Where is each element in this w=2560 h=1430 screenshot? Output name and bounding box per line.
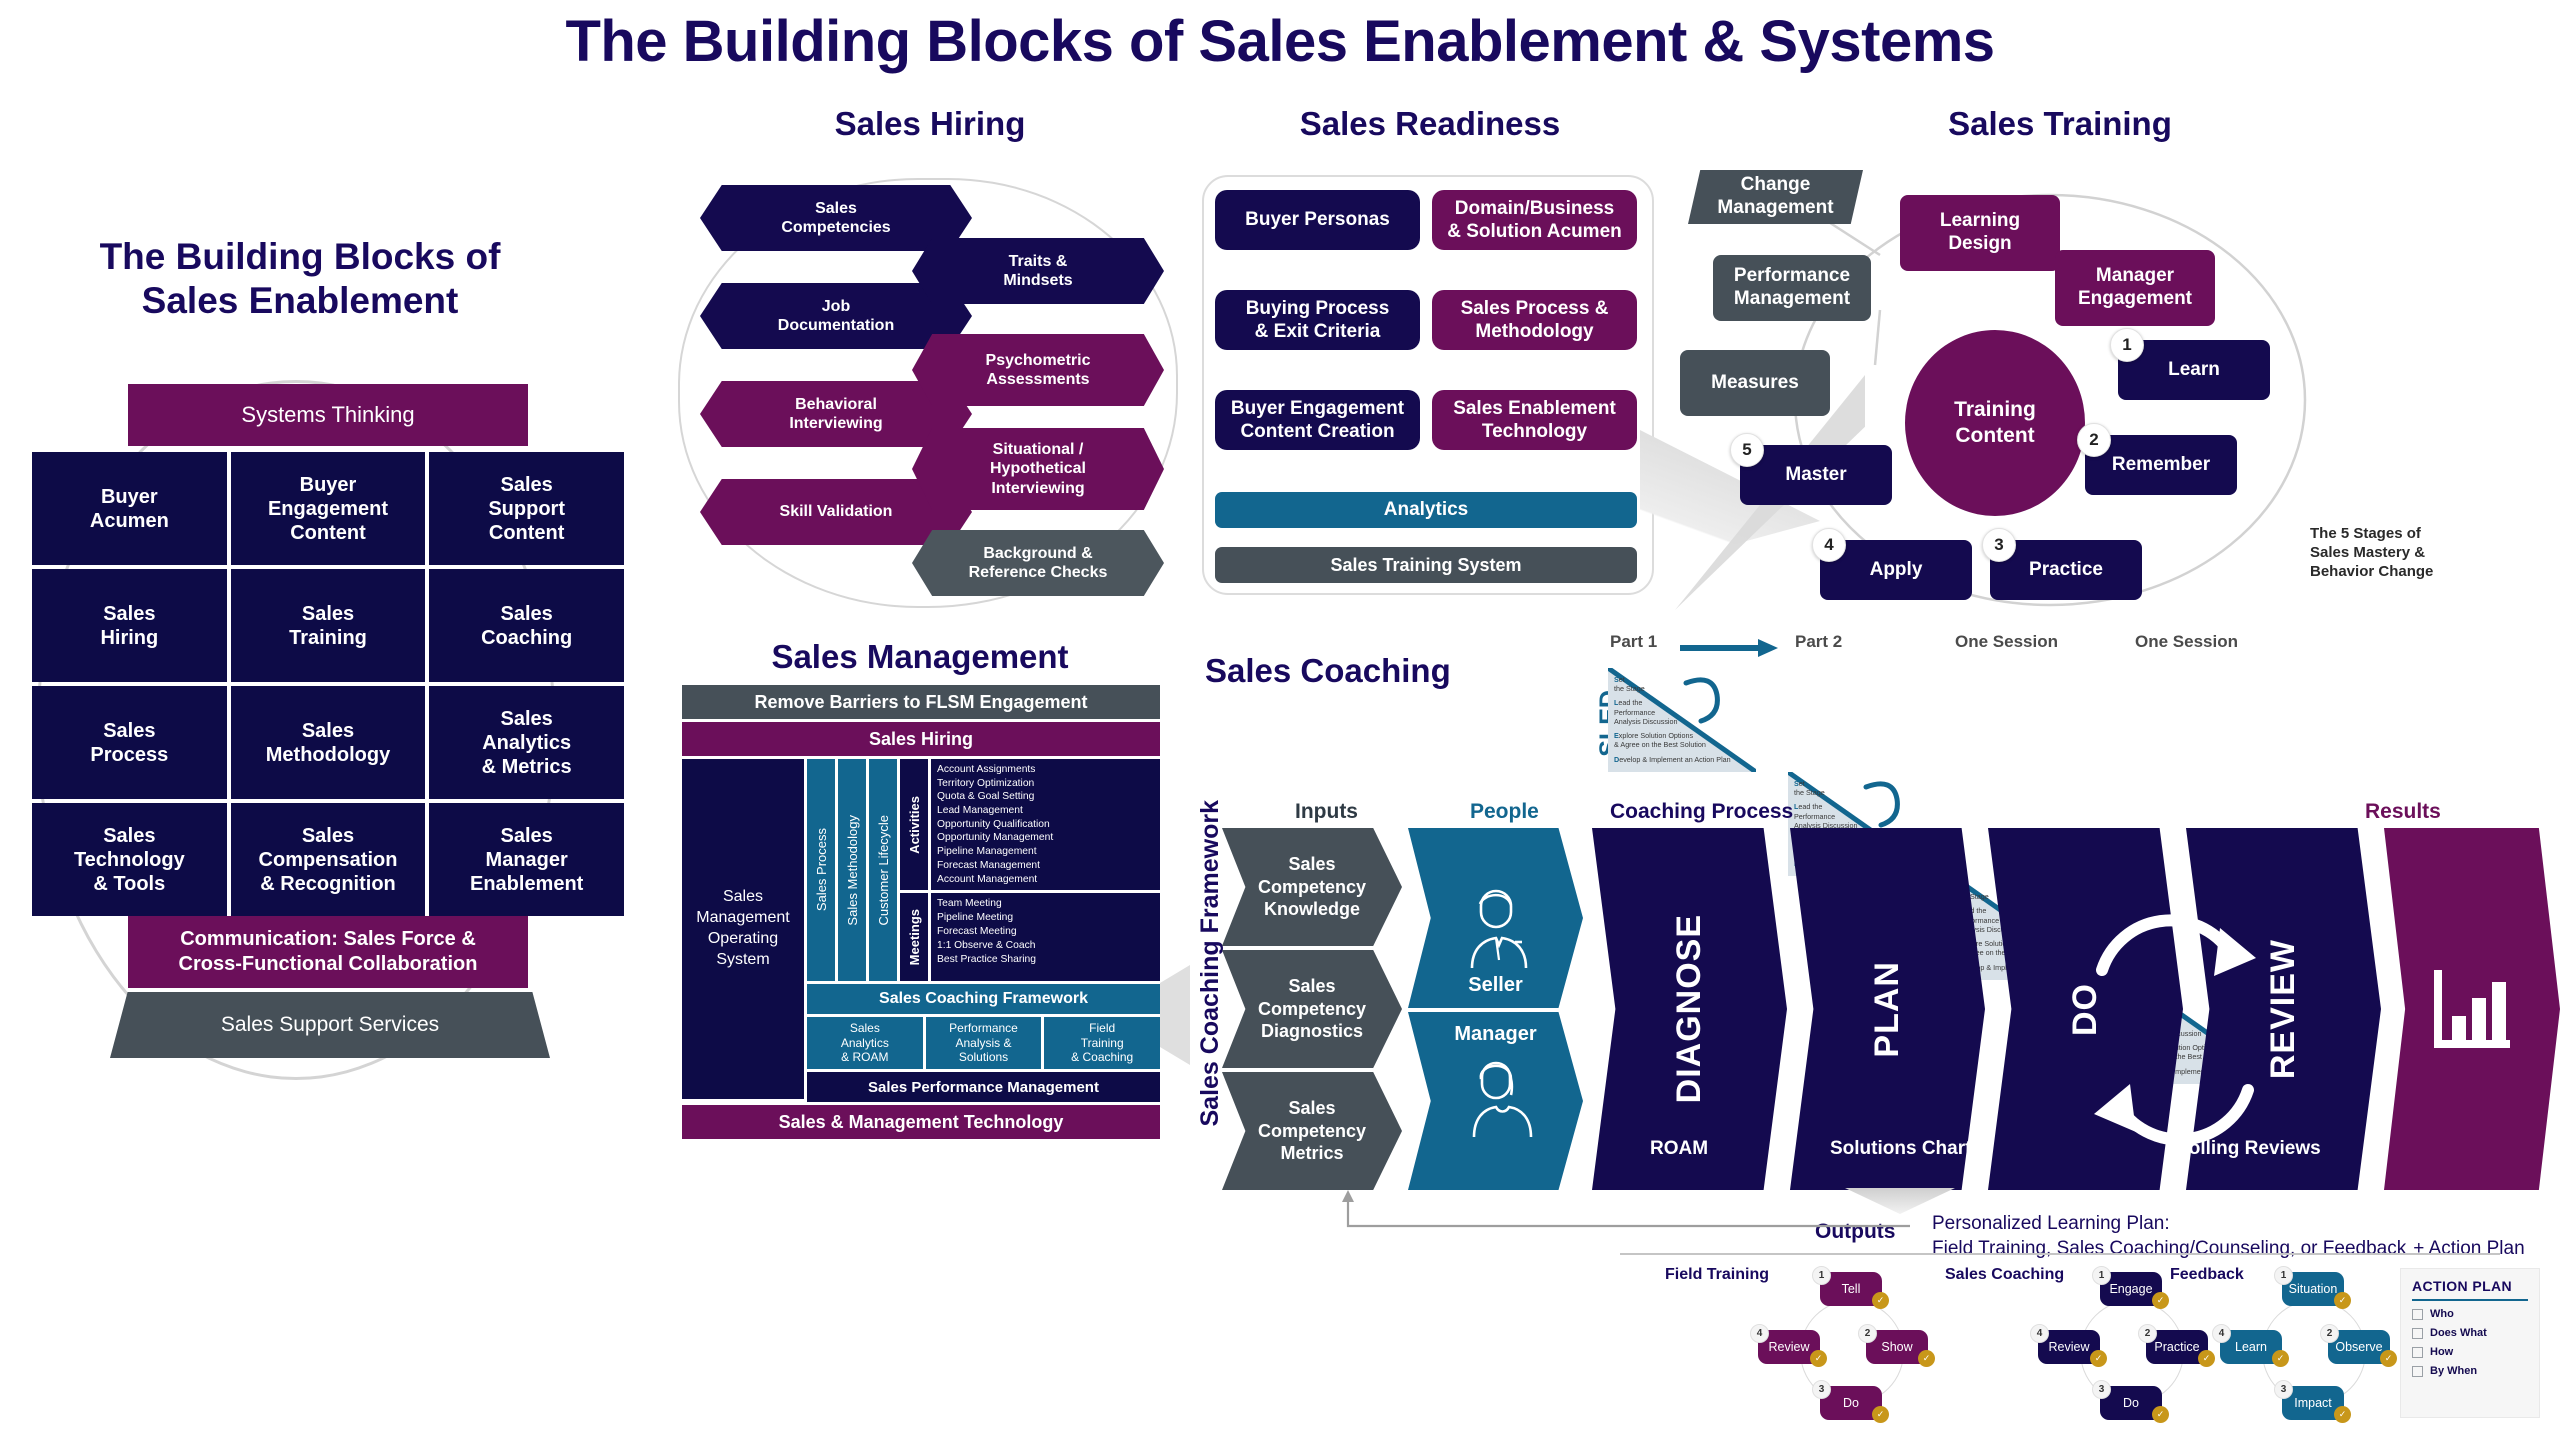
sled-line2: the Stage: [1794, 788, 1825, 797]
cycle-title-field-training: Field Training: [1665, 1266, 1769, 1284]
building-blocks-grid: BuyerAcumen BuyerEngagementContent Sales…: [32, 452, 624, 916]
sm-activity-item: Quota & Goal Setting: [937, 790, 1154, 804]
sled-rest: xplore Solution Options: [1619, 731, 1693, 740]
cycle-step-number: 3: [1812, 1380, 1831, 1399]
training-stage-number: 4: [1812, 528, 1846, 562]
cycle-title-sales-coaching: Sales Coaching: [1945, 1266, 2064, 1284]
building-block-cell[interactable]: SalesProcess: [32, 686, 227, 799]
building-block-cell[interactable]: SalesCoaching: [429, 569, 624, 682]
cycle-step-number: 2: [1858, 1324, 1877, 1343]
cycle-step-check-icon: ✓: [2380, 1350, 2397, 1367]
readiness-card-buying-process[interactable]: Buying Process& Exit Criteria: [1215, 290, 1420, 350]
building-block-cell[interactable]: SalesTechnology& Tools: [32, 803, 227, 916]
coaching-person-label: Seller: [1468, 973, 1522, 998]
coaching-col-process: Coaching Process: [1610, 800, 1793, 824]
hiring-hex-background-checks[interactable]: Background &Reference Checks: [912, 530, 1164, 596]
coaching-col-inputs: Inputs: [1295, 800, 1358, 824]
sm-technology-bar: Sales & Management Technology: [682, 1105, 1160, 1139]
cycle-step-number: 1: [2274, 1266, 2293, 1285]
sm-meeting-item: Forecast Meeting: [937, 925, 1154, 939]
sm-meetings-label: Meetings: [907, 909, 922, 965]
sm-subbox-analytics-roam[interactable]: SalesAnalytics& ROAM: [807, 1017, 923, 1069]
building-block-cell[interactable]: SalesTraining: [231, 569, 426, 682]
cycle-step-check-icon: ✓: [1872, 1406, 1889, 1423]
coaching-person-label: Manager: [1454, 1022, 1536, 1047]
sm-col-label: Customer Lifecycle: [876, 815, 891, 926]
seller-avatar-icon: [1459, 882, 1533, 968]
coaching-results-chevron[interactable]: [2384, 828, 2560, 1190]
cycle-step-number: 1: [1812, 1266, 1831, 1285]
sm-performance-management-bar: Sales Performance Management: [807, 1072, 1160, 1102]
action-plan-label: How: [2430, 1346, 2453, 1358]
cycle-step-check-icon: ✓: [2272, 1350, 2289, 1367]
sm-meeting-item: 1:1 Observe & Coach: [937, 939, 1154, 953]
hiring-hex-traits-mindsets[interactable]: Traits &Mindsets: [912, 238, 1164, 304]
sm-meetings-label-col: Meetings: [900, 893, 928, 981]
sled-line2: & Agree on the Best Solution: [1614, 740, 1706, 749]
sm-meeting-item: Team Meeting: [937, 897, 1154, 911]
coaching-stage-foot-roam: ROAM: [1650, 1138, 1708, 1160]
building-blocks-title-line1: The Building Blocks of: [30, 235, 570, 279]
sled-rest: evelop & Implement an Action Plan: [1619, 755, 1730, 764]
sled-line2: the Stage: [1614, 684, 1645, 693]
cycle-step-check-icon: ✓: [1872, 1292, 1889, 1309]
building-block-cell[interactable]: BuyerAcumen: [32, 452, 227, 565]
outputs-feedback-loop: [1330, 1190, 1930, 1250]
communication-bar: Communication: Sales Force &Cross-Functi…: [128, 916, 528, 988]
readiness-analytics-bar[interactable]: Analytics: [1215, 492, 1637, 528]
coaching-input-knowledge[interactable]: SalesCompetencyKnowledge: [1222, 828, 1402, 946]
sled-header-session2: One Session: [2135, 632, 2238, 652]
training-change-management[interactable]: ChangeManagement: [1688, 170, 1863, 224]
coaching-stage-plan[interactable]: PLAN: [1790, 828, 1985, 1190]
training-manager-engagement[interactable]: ManagerEngagement: [2055, 250, 2215, 326]
sm-meeting-item: Best Practice Sharing: [937, 953, 1154, 967]
sm-sales-hiring-bar: Sales Hiring: [682, 722, 1160, 756]
sales-coaching-title: Sales Coaching: [1205, 652, 1535, 690]
do-review-cycle-icon: [2080, 880, 2270, 1180]
sales-readiness-title: Sales Readiness: [1200, 105, 1660, 143]
sm-activities-label: Activities: [907, 796, 922, 854]
sm-meetings-list: Team Meeting Pipeline Meeting Forecast M…: [931, 893, 1160, 981]
cycle-step-number: 4: [1750, 1324, 1769, 1343]
readiness-card-domain-acumen[interactable]: Domain/Business& Solution Acumen: [1432, 190, 1637, 250]
sled-header-session1: One Session: [1955, 632, 2058, 652]
sales-support-services-bar: Sales Support Services: [110, 992, 550, 1058]
sled-loop-icon: [1863, 777, 1908, 832]
building-block-cell[interactable]: SalesAnalytics& Metrics: [429, 686, 624, 799]
building-block-cell[interactable]: SalesCompensation& Recognition: [231, 803, 426, 916]
sales-hiring-title: Sales Hiring: [660, 105, 1200, 143]
sm-activity-item: Pipeline Management: [937, 845, 1154, 859]
training-measures[interactable]: Measures: [1680, 350, 1830, 416]
sm-operating-system: SalesManagementOperatingSystem: [682, 759, 804, 1099]
coaching-input-metrics[interactable]: SalesCompetencyMetrics: [1222, 1072, 1402, 1190]
coaching-col-results: Results: [2365, 800, 2441, 824]
building-block-cell[interactable]: SalesHiring: [32, 569, 227, 682]
sm-activities-label-col: Activities: [900, 759, 928, 890]
cycle-step-check-icon: ✓: [2198, 1350, 2215, 1367]
training-stage-number: 2: [2077, 423, 2111, 457]
coaching-input-diagnostics[interactable]: SalesCompetencyDiagnostics: [1222, 950, 1402, 1068]
readiness-card-content-creation[interactable]: Buyer EngagementContent Creation: [1215, 390, 1420, 450]
sales-management-diagram: Remove Barriers to FLSM Engagement Sales…: [682, 685, 1160, 1139]
cycle-step-check-icon: ✓: [1810, 1350, 1827, 1367]
sm-col-label: Sales Methodology: [845, 815, 860, 926]
coaching-person-manager[interactable]: Manager: [1408, 1012, 1583, 1190]
cycle-step-number: 1: [2092, 1266, 2111, 1285]
sm-activity-item: Forecast Management: [937, 859, 1154, 873]
training-content-circle: TrainingContent: [1905, 330, 2085, 516]
coaching-col-people: People: [1470, 800, 1539, 824]
cycle-step-check-icon: ✓: [2334, 1292, 2351, 1309]
sled-rest: et: [1799, 779, 1805, 788]
page-title: The Building Blocks of Sales Enablement …: [0, 8, 2560, 75]
checkbox-icon[interactable]: [2412, 1347, 2423, 1358]
training-performance-management[interactable]: PerformanceManagement: [1713, 255, 1871, 321]
sled-line2: Performance: [1794, 812, 1835, 821]
sm-meeting-item: Pipeline Meeting: [937, 911, 1154, 925]
action-plan-label: By When: [2430, 1365, 2477, 1377]
systems-thinking-bar: Systems Thinking: [128, 384, 528, 446]
readiness-card-enablement-tech[interactable]: Sales EnablementTechnology: [1432, 390, 1637, 450]
action-plan-row[interactable]: How: [2412, 1346, 2528, 1358]
sled-loop-icon: [1683, 673, 1728, 728]
cycle-step-number: 3: [2092, 1380, 2111, 1399]
sm-subbox-field-training[interactable]: FieldTraining& Coaching: [1044, 1017, 1160, 1069]
cycle-step-number: 2: [2138, 1324, 2157, 1343]
checkbox-icon[interactable]: [2412, 1366, 2423, 1377]
sled-rest: ead the: [1618, 698, 1642, 707]
training-stage-number: 3: [1982, 528, 2016, 562]
sled-triangle: Setthe Stage Lead thePerformanceAnalysis…: [1608, 668, 1756, 772]
sled-line3: Analysis Discussion: [1614, 717, 1678, 726]
readiness-training-system-bar[interactable]: Sales Training System: [1215, 547, 1637, 583]
outputs-divider: [1620, 1253, 2500, 1255]
coaching-stage-label: DIAGNOSE: [1668, 914, 1711, 1103]
action-plan-divider: [2412, 1299, 2528, 1301]
coaching-stage-label: PLAN: [1866, 961, 1909, 1058]
sm-activity-item: Account Assignments: [937, 763, 1154, 777]
sales-management-title: Sales Management: [680, 638, 1160, 676]
building-block-cell[interactable]: SalesMethodology: [231, 686, 426, 799]
action-plan-row[interactable]: Does What: [2412, 1327, 2528, 1339]
action-plan-row[interactable]: Who: [2412, 1308, 2528, 1320]
sm-activity-item: Account Management: [937, 873, 1154, 887]
sled-line2: Performance: [1614, 708, 1655, 717]
manager-avatar-icon: [1459, 1051, 1533, 1137]
cycle-step-number: 4: [2212, 1324, 2231, 1343]
sled-arrow-icon: [1680, 637, 1780, 659]
sm-subbox-performance-analysis[interactable]: PerformanceAnalysis &Solutions: [926, 1017, 1042, 1069]
action-plan-label: Who: [2430, 1308, 2454, 1320]
checkbox-icon[interactable]: [2412, 1328, 2423, 1339]
action-plan-label: Does What: [2430, 1327, 2487, 1339]
sm-col-sales-methodology: Sales Methodology: [838, 759, 866, 981]
cycle-step-number: 3: [2274, 1380, 2293, 1399]
sm-activities-list: Account Assignments Territory Optimizati…: [931, 759, 1160, 890]
cycle-step-check-icon: ✓: [2152, 1292, 2169, 1309]
sm-col-sales-process: Sales Process: [807, 759, 835, 981]
building-blocks-title: The Building Blocks of Sales Enablement: [30, 235, 570, 322]
cycle-step-check-icon: ✓: [2152, 1406, 2169, 1423]
coaching-person-seller[interactable]: Seller: [1408, 828, 1583, 1008]
building-block-cell[interactable]: BuyerEngagementContent: [231, 452, 426, 565]
sm-activity-item: Territory Optimization: [937, 777, 1154, 791]
results-bar-chart-icon: [2428, 964, 2516, 1054]
sm-activity-item: Opportunity Qualification: [937, 818, 1154, 832]
building-block-cell[interactable]: SalesManagerEnablement: [429, 803, 624, 916]
training-stage-number: 1: [2110, 328, 2144, 362]
sm-col-customer-lifecycle: Customer Lifecycle: [869, 759, 897, 981]
cycle-step-number: 4: [2030, 1324, 2049, 1343]
sled-rest: et: [1619, 675, 1625, 684]
hiring-hex-psychometric-assessments[interactable]: PsychometricAssessments: [912, 334, 1164, 406]
training-learning-design[interactable]: LearningDesign: [1900, 195, 2060, 271]
training-stage-number: 5: [1730, 433, 1764, 467]
sm-activity-item: Opportunity Management: [937, 831, 1154, 845]
training-5-stages-note: The 5 Stages ofSales Mastery &Behavior C…: [2310, 525, 2540, 581]
cycle-title-feedback: Feedback: [2170, 1266, 2244, 1284]
sled-rest: ead the: [1798, 802, 1822, 811]
outputs-line2: Field Training, Sales Coaching/Counselin…: [1932, 1237, 2406, 1262]
sled-header-part2: Part 2: [1795, 632, 1842, 652]
sm-activity-item: Lead Management: [937, 804, 1154, 818]
cycle-step-number: 2: [2320, 1324, 2339, 1343]
coaching-stage-foot-solutions: Solutions Chart: [1830, 1138, 1971, 1160]
readiness-card-buyer-personas[interactable]: Buyer Personas: [1215, 190, 1420, 250]
sled-header-part1: Part 1: [1610, 632, 1657, 652]
action-plan-title: ACTION PLAN: [2412, 1278, 2528, 1294]
coaching-stage-diagnose[interactable]: DIAGNOSE: [1592, 828, 1787, 1190]
outputs-line3: + Action Plan: [2413, 1237, 2524, 1262]
cycle-step-check-icon: ✓: [2090, 1350, 2107, 1367]
action-plan-panel: ACTION PLAN Who Does What How By When: [2400, 1268, 2540, 1418]
building-blocks-title-line2: Sales Enablement: [30, 279, 570, 323]
sm-remove-barriers-bar: Remove Barriers to FLSM Engagement: [682, 685, 1160, 719]
checkbox-icon[interactable]: [2412, 1309, 2423, 1320]
framework-vertical-text: Sales Coaching Framework: [1196, 800, 1225, 1127]
building-block-cell[interactable]: SalesSupportContent: [429, 452, 624, 565]
sm-coaching-framework-bar: Sales Coaching Framework: [807, 984, 1160, 1014]
sm-to-coaching-wedge: [1160, 965, 1190, 1065]
outputs-line1: Personalized Learning Plan:: [1932, 1212, 2525, 1237]
readiness-card-sales-process[interactable]: Sales Process &Methodology: [1432, 290, 1637, 350]
sales-training-title: Sales Training: [1820, 105, 2300, 143]
hiring-hex-situational-interviewing[interactable]: Situational /HypotheticalInterviewing: [912, 428, 1164, 510]
cycle-step-check-icon: ✓: [2334, 1406, 2351, 1423]
sm-col-label: Sales Process: [814, 828, 829, 911]
cycle-step-check-icon: ✓: [1918, 1350, 1935, 1367]
action-plan-row[interactable]: By When: [2412, 1365, 2528, 1377]
